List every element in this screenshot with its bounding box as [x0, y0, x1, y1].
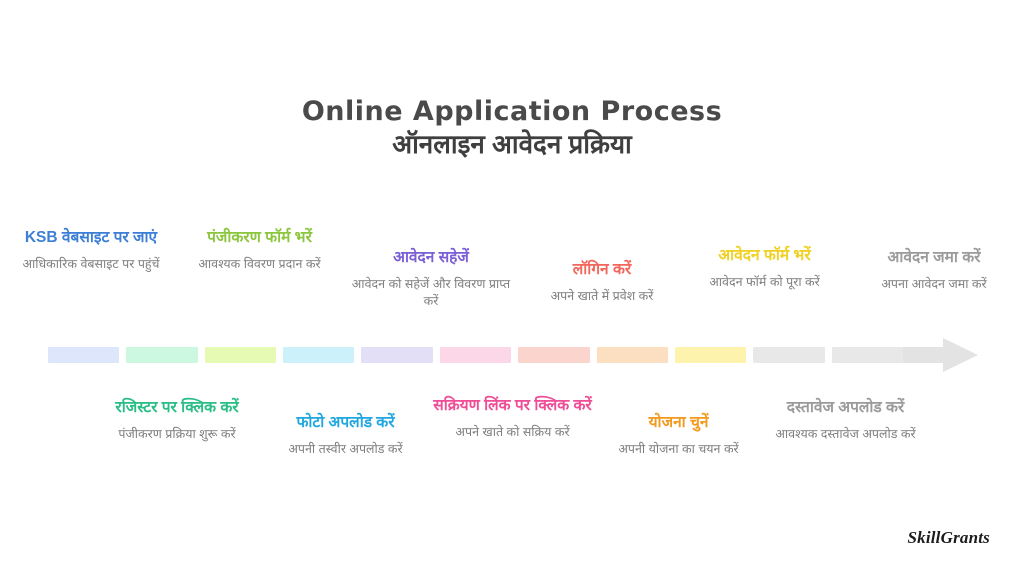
arrow-segment — [518, 347, 589, 363]
arrow-segment — [675, 347, 746, 363]
step-description: अपने खाते में प्रवेश करें — [516, 288, 688, 306]
step-title: KSB वेबसाइट पर जाएं — [8, 228, 174, 249]
step-title: लॉगिन करें — [516, 260, 688, 281]
step-description: आवेदन फॉर्म को पूरा करें — [683, 274, 846, 292]
arrow-segment — [832, 347, 903, 363]
step-description: अपनी तस्वीर अपलोड करें — [263, 441, 428, 459]
step-description: आवश्यक विवरण प्रदान करें — [178, 256, 341, 274]
arrow-segment — [126, 347, 197, 363]
watermark-logo: SkillGrants — [907, 528, 990, 548]
step-title: आवेदन सहेजें — [348, 248, 514, 269]
step-bottom-5: दस्तावेज अपलोड करें आवश्यक दस्तावेज अपलो… — [763, 398, 928, 443]
step-description: आवेदन को सहेजें और विवरण प्राप्त करें — [348, 276, 514, 311]
step-title: फोटो अपलोड करें — [263, 413, 428, 434]
step-top-2: पंजीकरण फॉर्म भरें आवश्यक विवरण प्रदान क… — [178, 228, 341, 273]
step-top-6: आवेदन जमा करें अपना आवेदन जमा करें — [853, 248, 1015, 293]
step-title: दस्तावेज अपलोड करें — [763, 398, 928, 419]
step-description: आवश्यक दस्तावेज अपलोड करें — [763, 426, 928, 444]
arrow-segment — [753, 347, 824, 363]
arrow-segment — [205, 347, 276, 363]
step-bottom-3: सक्रियण लिंक पर क्लिक करें अपने खाते को … — [430, 396, 595, 441]
arrow-segment-list — [48, 347, 903, 363]
step-top-3: आवेदन सहेजें आवेदन को सहेजें और विवरण प्… — [348, 248, 514, 311]
step-top-4: लॉगिन करें अपने खाते में प्रवेश करें — [516, 260, 688, 305]
step-title: पंजीकरण फॉर्म भरें — [178, 228, 341, 249]
page-title: Online Application Process ऑनलाइन आवेदन … — [0, 96, 1024, 161]
step-title: आवेदन फॉर्म भरें — [683, 246, 846, 267]
step-description: अपने खाते को सक्रिय करें — [430, 424, 595, 442]
step-title: आवेदन जमा करें — [853, 248, 1015, 269]
step-bottom-2: फोटो अपलोड करें अपनी तस्वीर अपलोड करें — [263, 413, 428, 458]
arrow-segment — [597, 347, 668, 363]
step-description: आधिकारिक वेबसाइट पर पहुंचें — [8, 256, 174, 274]
title-english: Online Application Process — [0, 96, 1024, 127]
arrow-segment — [440, 347, 511, 363]
step-description: अपनी योजना का चयन करें — [597, 441, 760, 459]
step-title: सक्रियण लिंक पर क्लिक करें — [430, 396, 595, 417]
title-hindi: ऑनलाइन आवेदन प्रक्रिया — [0, 128, 1024, 161]
arrow-head-icon — [903, 337, 978, 373]
step-top-5: आवेदन फॉर्म भरें आवेदन फॉर्म को पूरा करे… — [683, 246, 846, 291]
step-bottom-4: योजना चुनें अपनी योजना का चयन करें — [597, 413, 760, 458]
step-title: योजना चुनें — [597, 413, 760, 434]
arrow-segment — [283, 347, 354, 363]
process-arrow — [48, 345, 978, 365]
step-top-1: KSB वेबसाइट पर जाएं आधिकारिक वेबसाइट पर … — [8, 228, 174, 273]
step-description: पंजीकरण प्रक्रिया शुरू करें — [93, 426, 261, 444]
step-description: अपना आवेदन जमा करें — [853, 276, 1015, 294]
arrow-segment — [48, 347, 119, 363]
step-title: रजिस्टर पर क्लिक करें — [93, 398, 261, 419]
arrow-segment — [361, 347, 432, 363]
step-bottom-1: रजिस्टर पर क्लिक करें पंजीकरण प्रक्रिया … — [93, 398, 261, 443]
